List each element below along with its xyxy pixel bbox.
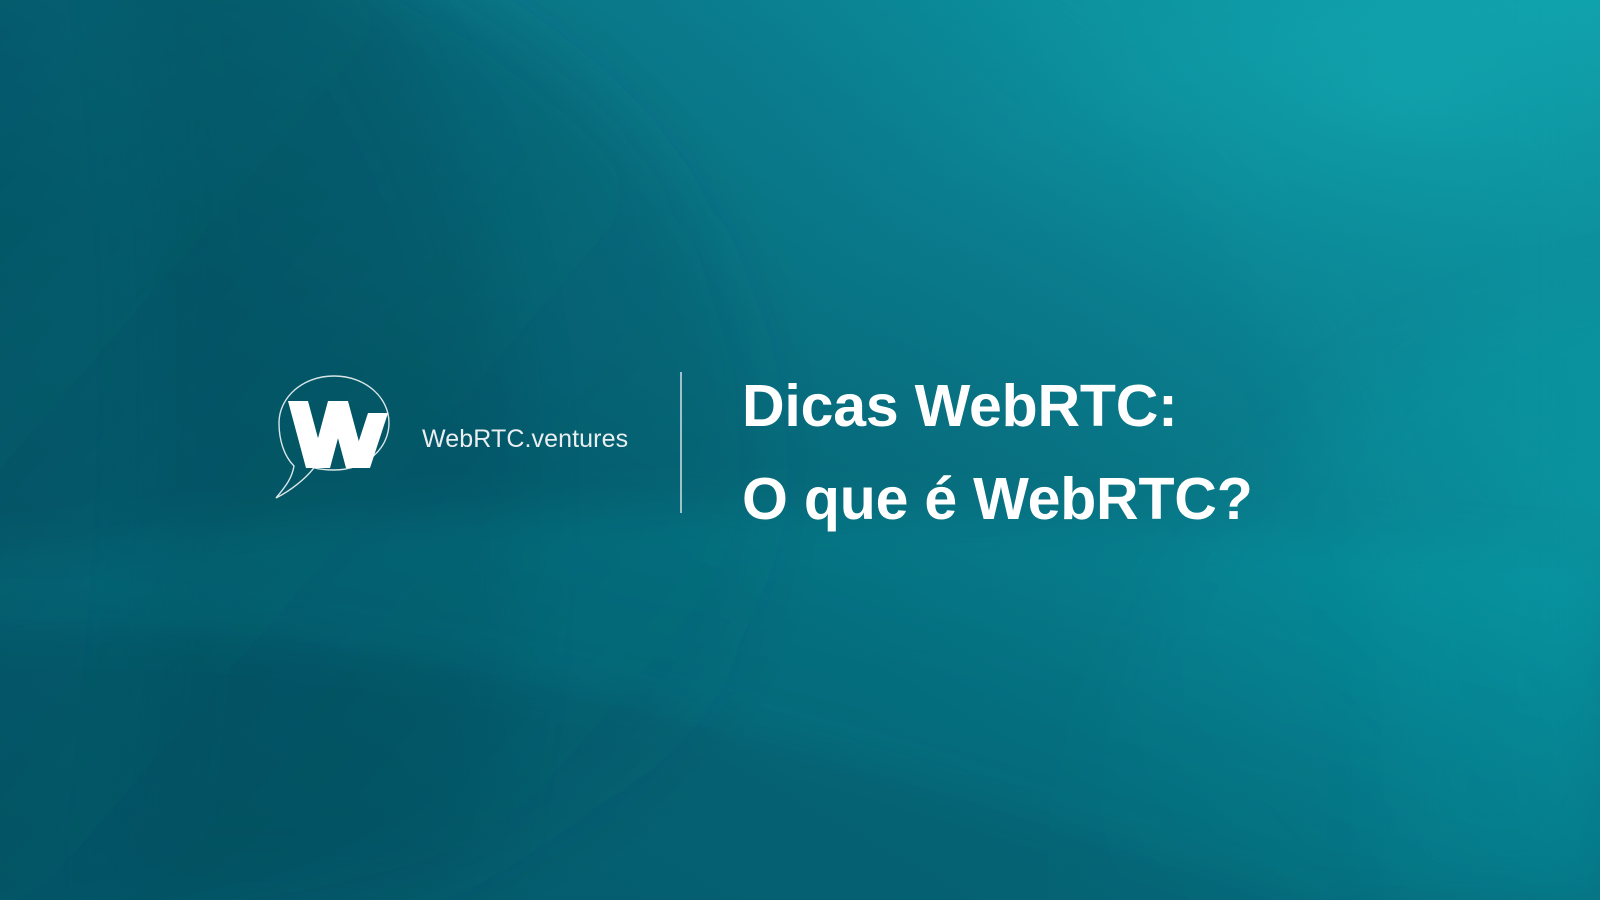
speech-bubble-w-logo-icon — [272, 370, 396, 506]
vertical-divider — [680, 372, 682, 513]
headline-block: Dicas WebRTC: O que é WebRTC? — [742, 360, 1482, 546]
webrtc-ventures-title-banner: WebRTC.ventures Dicas WebRTC: O que é We… — [0, 0, 1600, 900]
brand-wordmark: WebRTC.ventures — [422, 427, 628, 452]
headline-line-2: O que é WebRTC? — [742, 453, 1482, 546]
brand-logo-lockup: WebRTC.ventures — [272, 370, 628, 506]
headline-line-1: Dicas WebRTC: — [742, 360, 1482, 453]
